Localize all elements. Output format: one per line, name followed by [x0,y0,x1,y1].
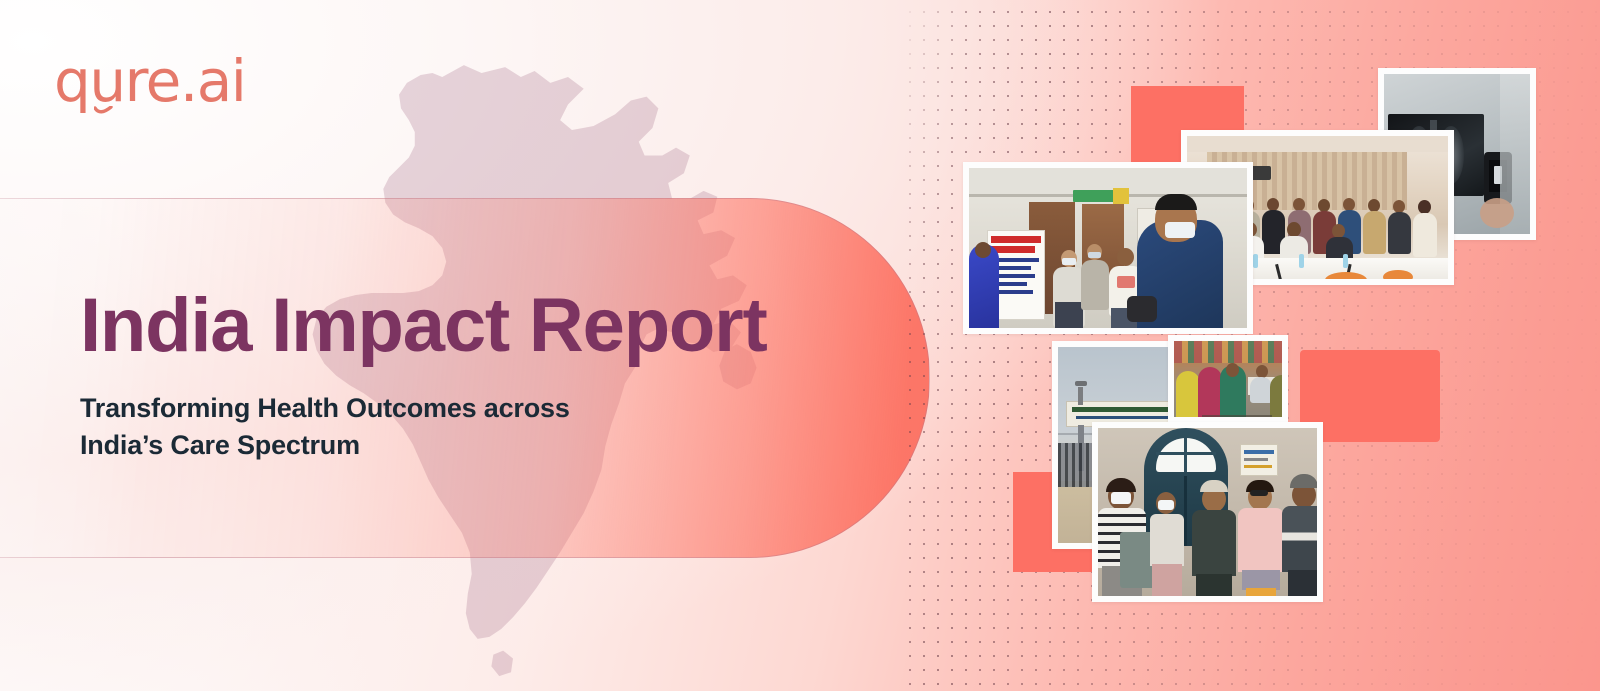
photo-health-camp-screening[interactable] [963,162,1253,334]
page-title: India Impact Report [80,288,767,364]
india-impact-report-banner: qure.ai India Impact Report Transforming… [0,0,1600,691]
hero-text-block: India Impact Report Transforming Health … [80,288,767,463]
qure-ai-logo[interactable]: qure.ai [54,52,245,110]
logo-wordmark: qure.ai [54,47,245,115]
logo-tick-icon [94,106,114,116]
page-subtitle: Transforming Health Outcomes across Indi… [80,390,767,463]
photo-community-outreach[interactable] [1168,335,1288,423]
photo-field-team[interactable] [1092,422,1323,602]
